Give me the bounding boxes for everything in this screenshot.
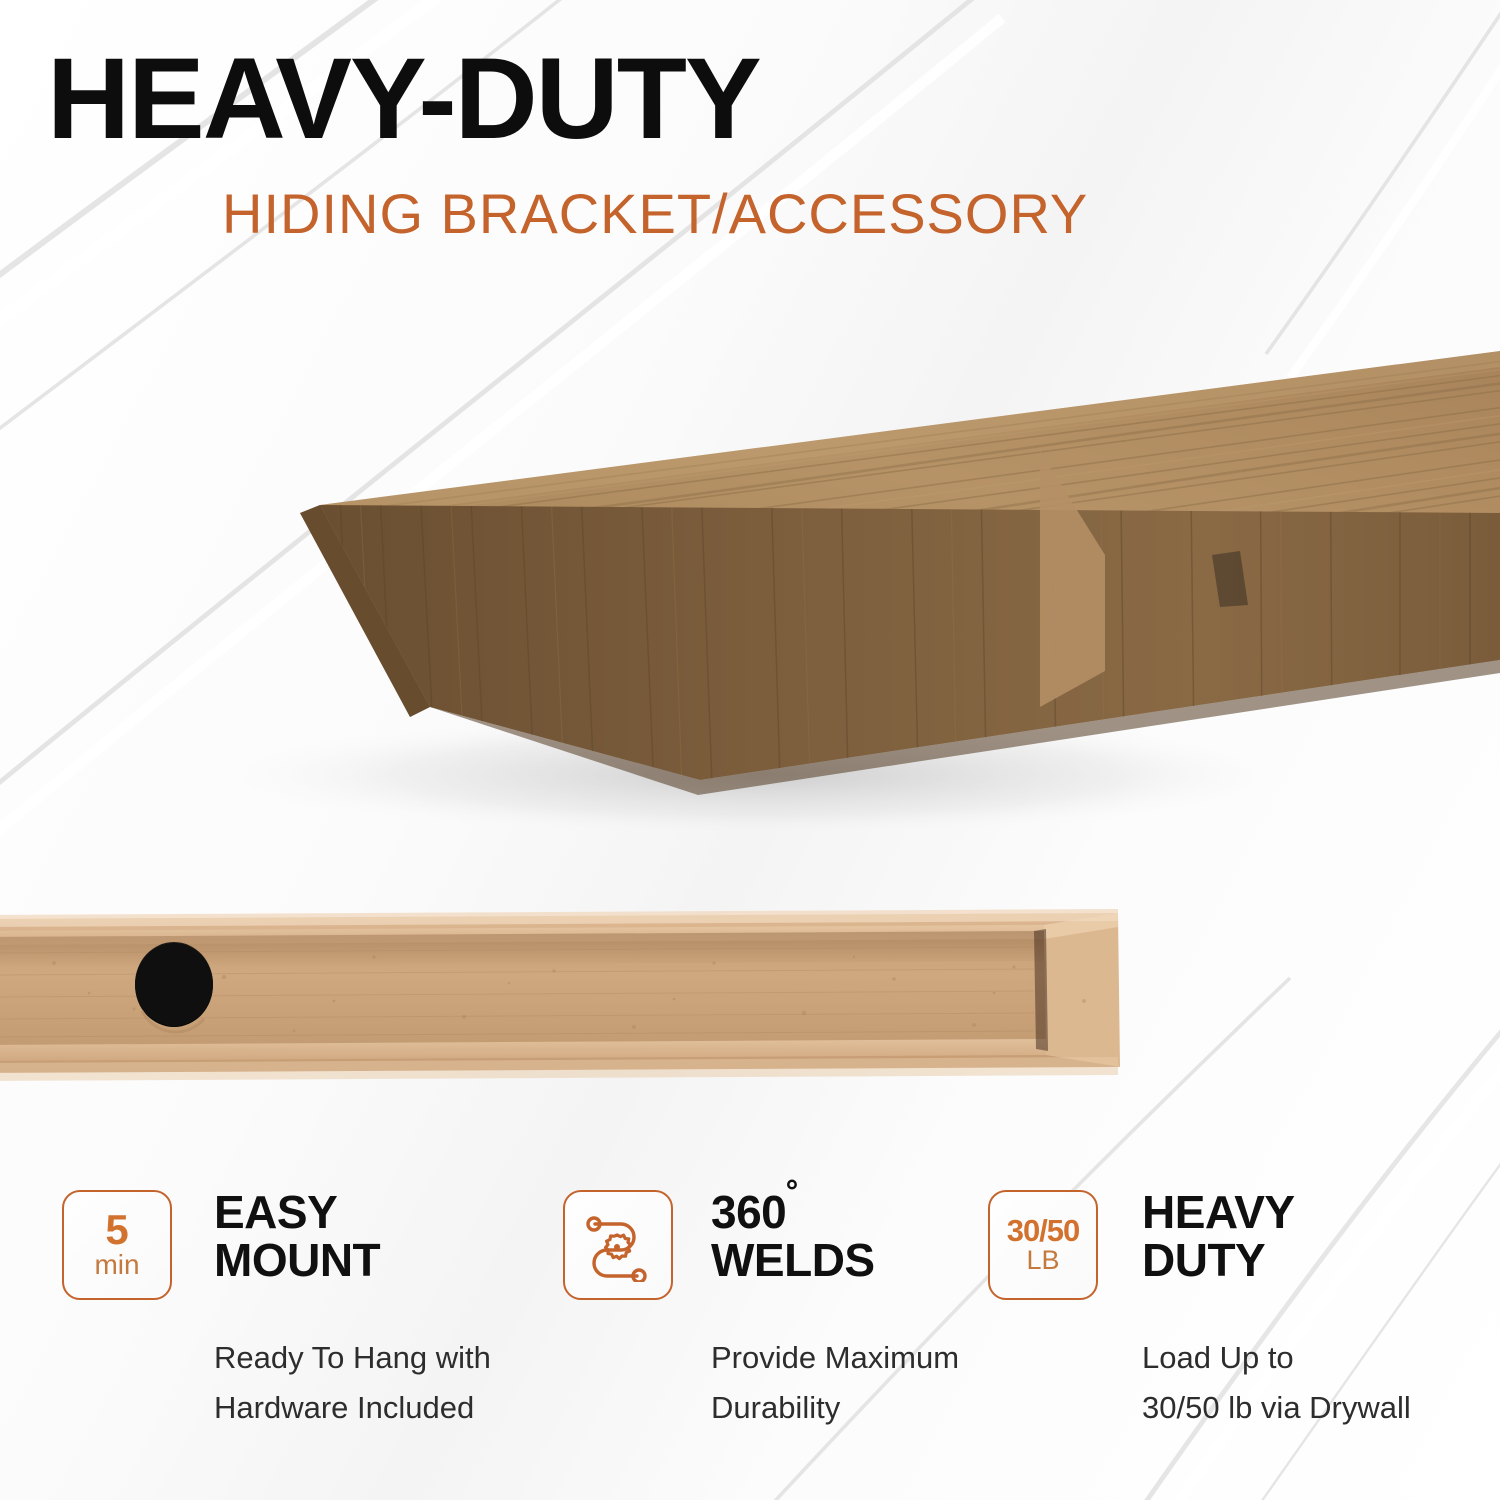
hero-product-illustration bbox=[0, 255, 1500, 895]
feature-title: EASY MOUNT bbox=[214, 1188, 380, 1285]
weight-capacity-badge-icon: 30/50 LB bbox=[988, 1190, 1098, 1300]
feature-title-second: WELDS bbox=[711, 1234, 875, 1286]
page-subtitle: HIDING BRACKET/ACCESSORY bbox=[222, 186, 1088, 242]
badge-unit: min bbox=[94, 1250, 139, 1279]
feature-easy-mount: 5 min EASY MOUNT Ready To Hang with Hard… bbox=[0, 1175, 500, 1475]
feature-list: 5 min EASY MOUNT Ready To Hang with Hard… bbox=[0, 1175, 1500, 1475]
feature-heavy-duty: 30/50 LB HEAVY DUTY Load Up to 30/50 lb … bbox=[970, 1175, 1470, 1475]
badge-value: 5 bbox=[105, 1210, 128, 1250]
feature-360-welds: 360˚WELDS Provide Maximum Durability bbox=[500, 1175, 970, 1475]
weld-path-gear-icon bbox=[563, 1190, 673, 1300]
badge-value: 30/50 bbox=[1007, 1216, 1080, 1245]
product-marketing-image: HEAVY-DUTY HIDING BRACKET/ACCESSORY bbox=[0, 0, 1500, 1500]
feature-description: Load Up to 30/50 lb via Drywall bbox=[1142, 1333, 1411, 1433]
five-minute-badge-icon: 5 min bbox=[62, 1190, 172, 1300]
feature-description: Ready To Hang with Hardware Included bbox=[214, 1333, 491, 1433]
weld-path-gear-glyph bbox=[581, 1208, 655, 1282]
feature-title: 360˚WELDS bbox=[711, 1188, 875, 1285]
feature-description: Provide Maximum Durability bbox=[711, 1333, 959, 1433]
page-title: HEAVY-DUTY bbox=[47, 42, 760, 157]
feature-title-value: 360 bbox=[711, 1186, 786, 1238]
badge-unit: LB bbox=[1026, 1246, 1059, 1274]
degree-symbol: ˚ bbox=[786, 1177, 799, 1221]
shelf-cross-section-illustration bbox=[0, 905, 1124, 1090]
feature-title: HEAVY DUTY bbox=[1142, 1188, 1295, 1285]
